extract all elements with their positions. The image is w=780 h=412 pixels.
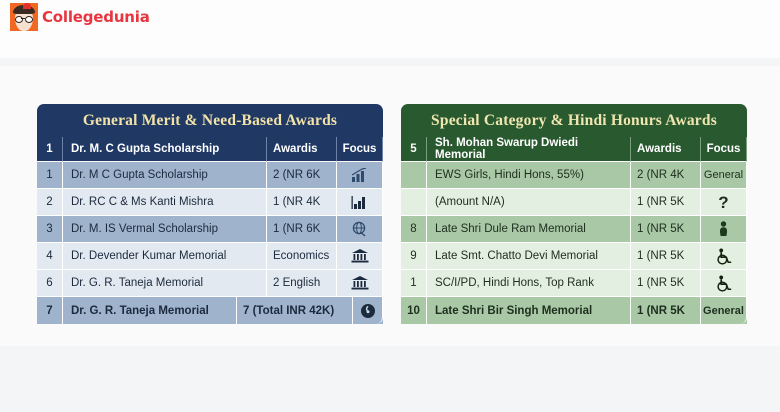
cell-num: 2 [37, 189, 63, 216]
globe-circle-icon [360, 303, 376, 319]
header-cell-focus: Focus [337, 137, 383, 162]
cell-award: 7 (Total INR 42K) [237, 297, 353, 324]
cell-num: 10 [401, 297, 427, 324]
cell-award: 1 (NR 4K [267, 189, 337, 216]
table-row[interactable]: 8 Late Shri Dule Ram Memorial 1 (NR 5K [401, 216, 747, 243]
cell-num: 1 [37, 162, 63, 189]
bar-chart-icon [351, 195, 368, 210]
cell-award: 1 (NR 5K [631, 270, 701, 297]
table-row[interactable]: 1 Dr. M C Gupta Scholarship 2 (NR 6K [37, 162, 383, 189]
cell-focus: ? [701, 189, 747, 216]
cell-num: 4 [37, 243, 63, 270]
cell-focus [701, 270, 747, 297]
table-row[interactable]: 6 Dr. G. R. Taneja Memorial 2 English [37, 270, 383, 297]
table-row[interactable]: 3 Dr. M. IS Vermal Scholarship 1 (NR 6K [37, 216, 383, 243]
brand-name: Collegedunia [42, 8, 150, 26]
cell-award: 1 (NR 5K [631, 297, 701, 324]
header-cell-award: Awardis [631, 137, 701, 162]
cell-num [401, 189, 427, 216]
header-cell-focus: Focus [701, 137, 747, 162]
cell-focus [337, 189, 383, 216]
cell-name: EWS Girls, Hindi Hons, 55%) [427, 162, 631, 189]
table-row[interactable]: 2 Dr. RC C & Ms Kanti Mishra 1 (NR 4K [37, 189, 383, 216]
cell-num: 7 [37, 297, 63, 324]
cell-num: 1 [401, 270, 427, 297]
cell-award: 1 (NR 6K [267, 216, 337, 243]
cell-num: 8 [401, 216, 427, 243]
cell-focus [337, 243, 383, 270]
cell-num: 9 [401, 243, 427, 270]
cell-name: Dr. G. R. Taneja Memorial [63, 297, 237, 324]
header-cell-name: Sh. Mohan Swarup Dwiedi Memorial [427, 137, 631, 162]
brand-logo[interactable]: Collegedunia [10, 3, 150, 31]
table-row[interactable]: 4 Dr. Devender Kumar Memorial Economics [37, 243, 383, 270]
table-header-row: 1 Dr. M. C Gupta Scholarship Awardis Foc… [37, 137, 383, 162]
wheelchair-icon [715, 275, 732, 292]
cell-name: Late Shri Dule Ram Memorial [427, 216, 631, 243]
cell-name: (Amount N/A) [427, 189, 631, 216]
header-cell-award: Awardis [267, 137, 337, 162]
cell-name: Dr. Devender Kumar Memorial [63, 243, 267, 270]
globe-icon [351, 221, 368, 237]
cell-focus: General [701, 297, 747, 324]
cell-num: 6 [37, 270, 63, 297]
bank-icon [351, 275, 369, 291]
cell-award: 2 English [267, 270, 337, 297]
question-mark-icon: ? [718, 194, 728, 211]
cell-name: Dr. G. R. Taneja Memorial [63, 270, 267, 297]
cell-award: 1 (NR 5K [631, 216, 701, 243]
cell-focus [337, 162, 383, 189]
cell-award: 2 (NR 4K [631, 162, 701, 189]
cell-focus [353, 297, 383, 324]
cell-award: Economics [267, 243, 337, 270]
table-row[interactable]: 7 Dr. G. R. Taneja Memorial 7 (Total INR… [37, 297, 383, 324]
wheelchair-icon [715, 248, 732, 265]
cell-name: SC/I/PD, Hindi Hons, Top Rank [427, 270, 631, 297]
table-title: Special Category & Hindi Honurs Awards [401, 104, 747, 137]
cell-name: Late Smt. Chatto Devi Memorial [427, 243, 631, 270]
cell-num: 3 [37, 216, 63, 243]
cell-name: Dr. M. IS Vermal Scholarship [63, 216, 267, 243]
table-row[interactable]: 1 SC/I/PD, Hindi Hons, Top Rank 1 (NR 5K [401, 270, 747, 297]
table-special-category: Special Category & Hindi Honurs Awards 5… [401, 104, 747, 324]
bar-chart-icon [351, 168, 368, 183]
cell-focus [337, 270, 383, 297]
table-row[interactable]: 9 Late Smt. Chatto Devi Memorial 1 (NR 5… [401, 243, 747, 270]
table-title: General Merit & Need-Based Awards [37, 104, 383, 137]
cell-award: 2 (NR 6K [267, 162, 337, 189]
header-cell-name: Dr. M. C Gupta Scholarship [63, 137, 267, 162]
cell-focus: General [701, 162, 747, 189]
cell-award: 1 (NR 5K [631, 189, 701, 216]
header-cell-num: 1 [37, 137, 63, 162]
person-icon [718, 221, 729, 237]
table-row[interactable]: EWS Girls, Hindi Hons, 55%) 2 (NR 4K Gen… [401, 162, 747, 189]
table-general-merit: General Merit & Need-Based Awards 1 Dr. … [37, 104, 383, 324]
collegedunia-mascot-icon [10, 3, 38, 31]
cell-name: Dr. RC C & Ms Kanti Mishra [63, 189, 267, 216]
bank-icon [351, 248, 369, 264]
table-header-row: 5 Sh. Mohan Swarup Dwiedi Memorial Award… [401, 137, 747, 162]
cell-focus [701, 243, 747, 270]
header-cell-num: 5 [401, 137, 427, 162]
page-background: Collegedunia General Merit & Need-Based … [0, 0, 780, 412]
cell-award: 1 (NR 5K [631, 243, 701, 270]
cell-focus [337, 216, 383, 243]
table-row[interactable]: (Amount N/A) 1 (NR 5K ? [401, 189, 747, 216]
table-row[interactable]: 10 Late Shri Bir Singh Memorial 1 (NR 5K… [401, 297, 747, 324]
cell-name: Late Shri Bir Singh Memorial [427, 297, 631, 324]
cell-focus [701, 216, 747, 243]
cell-num [401, 162, 427, 189]
cell-name: Dr. M C Gupta Scholarship [63, 162, 267, 189]
